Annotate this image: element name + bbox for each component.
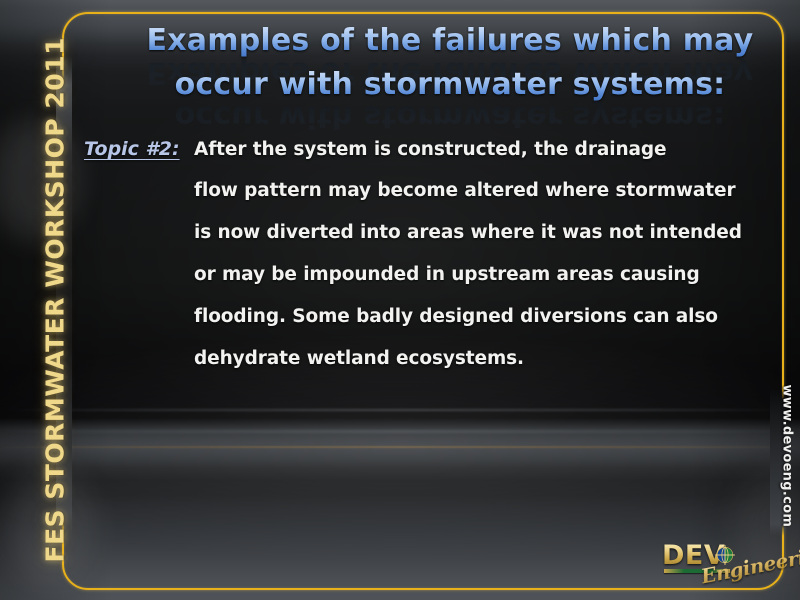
title-line-1-wrap: Examples of the failures which may Examp… — [120, 22, 780, 66]
presentation-slide: Examples of the failures which may Examp… — [0, 0, 800, 600]
body-line-2: flow pattern may become altered where st… — [194, 180, 736, 201]
body-line-4: or may be impounded in upstream areas ca… — [194, 264, 700, 285]
body-row: flow pattern may become altered where st… — [84, 180, 764, 222]
devo-engineering-logo: DEV Engineering — [662, 538, 787, 596]
body-row: dehydrate wetland ecosystems. — [84, 348, 764, 390]
body-line-5: flooding. Some badly designed diversions… — [194, 306, 718, 327]
body-line-1: After the system is constructed, the dra… — [194, 139, 667, 160]
website-url-text: www.devoeng.com — [780, 385, 795, 545]
title-line-2: occur with stormwater systems: — [120, 66, 780, 104]
body-line-3: is now diverted into areas where it was … — [194, 222, 742, 243]
title-line-1: Examples of the failures which may — [120, 22, 780, 60]
body-row: Topic #2: After the system is constructe… — [84, 138, 764, 180]
topic-label: Topic #2: — [84, 138, 194, 160]
body-line-6: dehydrate wetland ecosystems. — [194, 348, 524, 369]
body-row: is now diverted into areas where it was … — [84, 222, 764, 264]
slide-body: Topic #2: After the system is constructe… — [84, 138, 764, 390]
title-line-2-wrap: occur with stormwater systems: occur wit… — [120, 66, 780, 110]
slide-title: Examples of the failures which may Examp… — [120, 22, 780, 110]
body-row: flooding. Some badly designed diversions… — [84, 306, 764, 348]
body-row: or may be impounded in upstream areas ca… — [84, 264, 764, 306]
